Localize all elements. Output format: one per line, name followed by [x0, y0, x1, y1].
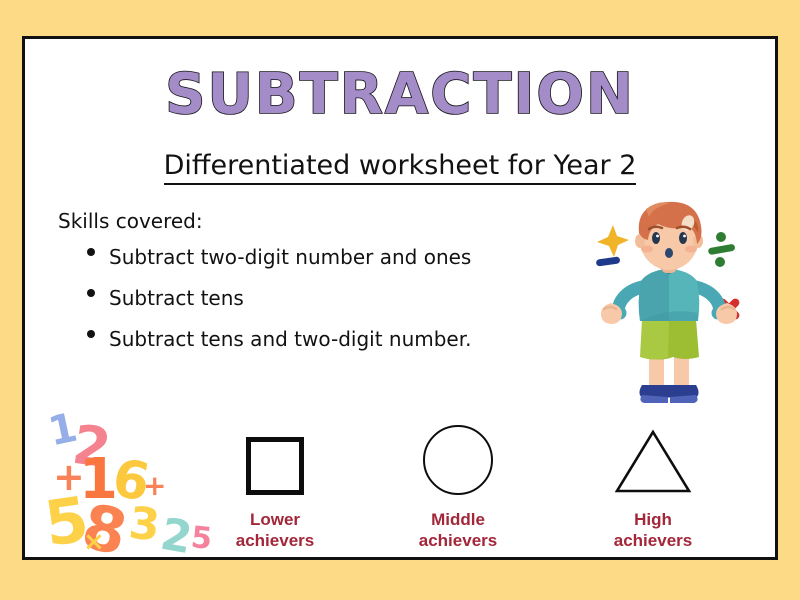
- worksheet-cover-page: SUBTRACTION Differentiated worksheet for…: [0, 0, 800, 600]
- differentiation-column-high: High achievers: [578, 417, 728, 552]
- skill-text: Subtract tens: [109, 286, 244, 310]
- decorative-number: 8: [76, 489, 133, 560]
- label-line-1: Middle: [383, 509, 533, 530]
- skills-list: Subtract two-digit number and ones Subtr…: [83, 246, 569, 369]
- decorative-number: 1: [45, 405, 82, 456]
- label-line-2: achievers: [383, 530, 533, 551]
- page-subtitle-text: Differentiated worksheet for Year 2: [164, 150, 637, 185]
- white-content-card: SUBTRACTION Differentiated worksheet for…: [22, 36, 778, 560]
- divide-symbol: [708, 232, 736, 267]
- bullet-icon: [87, 248, 95, 256]
- skill-text: Subtract two-digit number and ones: [109, 245, 471, 269]
- decorative-number: 2: [69, 413, 115, 481]
- differentiation-label-lower: Lower achievers: [200, 509, 350, 552]
- differentiation-label-middle: Middle achievers: [383, 509, 533, 552]
- shrugging-boy-illustration: [580, 199, 755, 424]
- circle-icon: [423, 425, 493, 495]
- decorative-number: +: [53, 455, 85, 499]
- decorative-number: 2: [157, 509, 196, 560]
- circle-shape-slot: [383, 417, 533, 495]
- label-line-1: Lower: [200, 509, 350, 530]
- list-item: Subtract tens: [109, 287, 569, 310]
- label-line-1: High: [578, 509, 728, 530]
- skill-text: Subtract tens and two-digit number.: [109, 327, 471, 351]
- bullet-icon: [87, 330, 95, 338]
- decorative-number: 1: [79, 447, 118, 512]
- square-shape-slot: [200, 417, 350, 495]
- list-item: Subtract tens and two-digit number.: [109, 328, 569, 351]
- page-subtitle: Differentiated worksheet for Year 2: [25, 151, 775, 181]
- differentiation-column-lower: Lower achievers: [200, 417, 350, 552]
- decorative-number: 3: [126, 498, 162, 552]
- decorative-number: ×: [83, 527, 105, 557]
- decorative-number: +: [143, 469, 166, 502]
- plus-symbol: [597, 225, 629, 257]
- bullet-icon: [87, 289, 95, 297]
- page-title: SUBTRACTION: [25, 67, 775, 123]
- square-icon: [246, 437, 304, 495]
- decorative-number: 5: [40, 482, 93, 560]
- triangle-icon: [614, 429, 692, 495]
- differentiation-label-high: High achievers: [578, 509, 728, 552]
- skills-heading: Skills covered:: [58, 209, 203, 233]
- triangle-shape-slot: [578, 417, 728, 495]
- list-item: Subtract two-digit number and ones: [109, 246, 569, 269]
- differentiation-column-middle: Middle achievers: [383, 417, 533, 552]
- minus-symbol: [596, 256, 621, 266]
- label-line-2: achievers: [200, 530, 350, 551]
- label-line-2: achievers: [578, 530, 728, 551]
- decorative-number: 6: [108, 448, 154, 513]
